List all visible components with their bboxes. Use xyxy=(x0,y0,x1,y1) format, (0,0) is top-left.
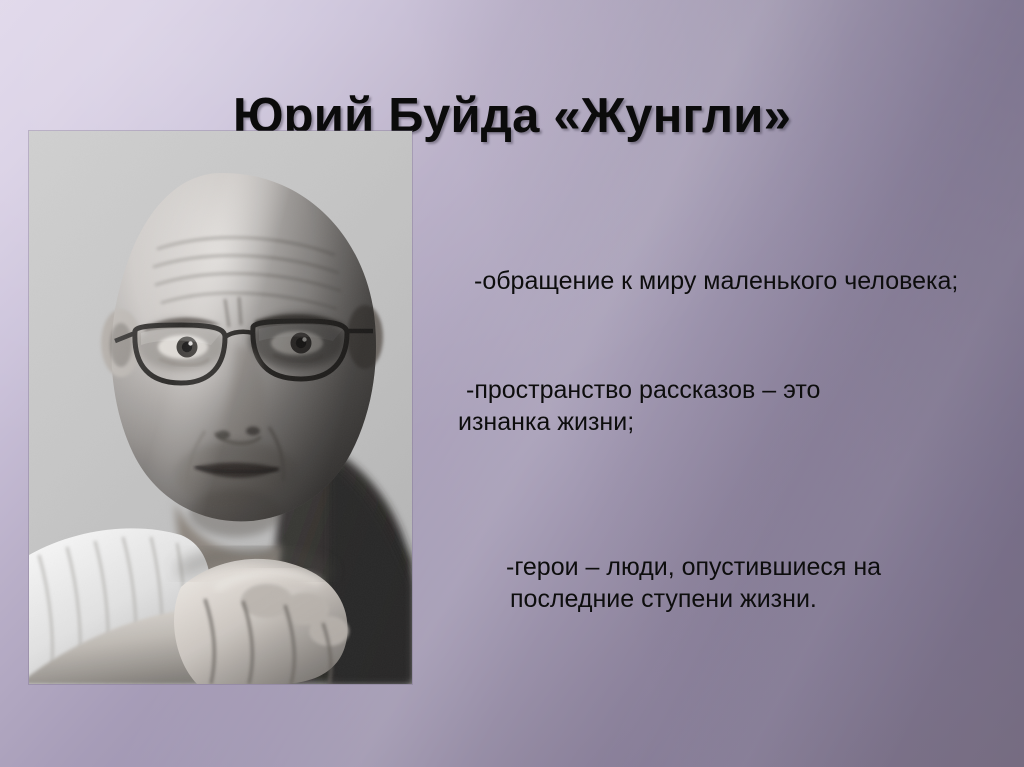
bullet-item-3: -герои – люди, опустившиеся на последние… xyxy=(440,518,1016,648)
bullet-2-line-1: -пространство рассказов – это xyxy=(466,376,820,404)
bullet-item-1: -обращение к миру маленького человека; xyxy=(440,232,1016,297)
author-portrait-photo xyxy=(29,131,412,684)
presentation-slide: Юрий Буйда «Жунгли» xyxy=(0,0,1024,767)
bullet-3-line-2: последние ступени жизни. xyxy=(510,583,1016,616)
bullet-2-line-2: изнанка жизни; xyxy=(458,406,1016,439)
slide-body-bullets: -обращение к миру маленького человека; -… xyxy=(440,232,1016,648)
bullet-item-2: -пространство рассказов – это изнанка жи… xyxy=(440,341,1016,471)
bullet-3-line-1: -герои – люди, опустившиеся на xyxy=(506,553,881,581)
portrait-illustration xyxy=(29,131,412,684)
bullet-1-line-1: -обращение к миру маленького человека; xyxy=(474,267,958,295)
